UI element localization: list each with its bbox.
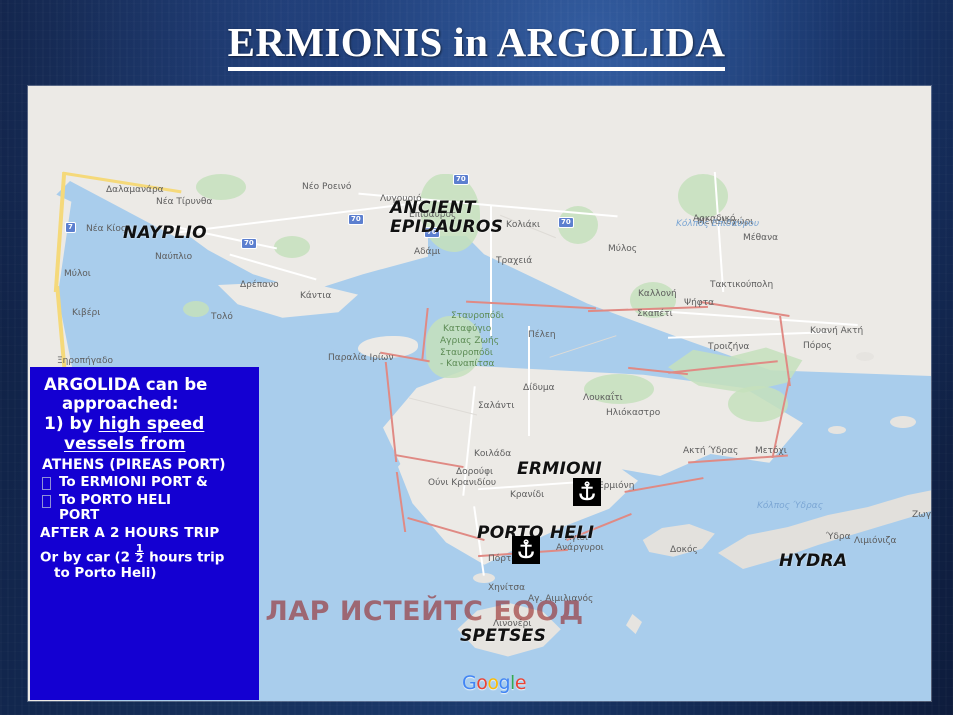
map-label: Δορούφι (456, 467, 493, 477)
bullet-box-icon (42, 477, 51, 490)
infobox-origin-port: ATHENS (PIREAS PORT) (40, 457, 249, 473)
map-label: Κιβέρι (72, 308, 100, 318)
infobox-car-text-b: hours trip (144, 549, 224, 565)
map-label: Πόρος (803, 341, 832, 351)
islet-5 (828, 426, 846, 434)
ermioni-port-marker[interactable] (573, 478, 601, 506)
map-label: Σαλάντι (478, 401, 514, 411)
green-tolo (183, 301, 209, 317)
page-title-text: ERMIONIS in ARGOLIDA (228, 18, 726, 71)
map-label: Ερμιόνη (598, 481, 634, 491)
highway-shield: 70 (348, 214, 364, 225)
infobox-bullet-1: To ERMIONI PORT & (40, 475, 249, 491)
islet-4 (890, 416, 916, 428)
map-label: Νέα Τίρυνθα (156, 197, 212, 207)
highway-shield: 70 (241, 238, 257, 249)
map-label: Καταφύγιο (443, 324, 491, 334)
map-label: Ακτή Ύδρας (683, 446, 738, 456)
islet-1 (626, 614, 642, 634)
infobox-option1-link-line1[interactable]: high speed (99, 414, 205, 434)
porto-heli-port-marker[interactable] (512, 536, 540, 564)
map-label: Κυανή Ακτή (810, 326, 863, 336)
map-overlay-label: ERMIONI (517, 459, 602, 479)
fraction-one-half: 12 (135, 544, 145, 564)
islet-3 (856, 352, 874, 361)
map-label: Καλλονή (638, 289, 677, 299)
infobox-bullet-2: To PORTO HELI PORT (40, 493, 249, 524)
map-label: Δίδυμα (523, 383, 555, 393)
map-label: Λουκαΐτι (583, 393, 623, 403)
map-label: Κόλπος Επιδαύρου (676, 219, 759, 229)
infobox-bullet-2-label-cont: PORT (59, 507, 99, 523)
infobox-bullet-1-label: To ERMIONI PORT & (59, 475, 208, 491)
map-label: Χηνίτσα (488, 583, 525, 593)
road-to-didyma (528, 326, 530, 436)
map-overlay-label: HYDRA (779, 551, 847, 571)
admin-boundary-n1 (466, 301, 596, 310)
green-patch-nafplio-e (274, 236, 310, 258)
info-text-box: ARGOLIDA can be approached: 1) by high s… (30, 367, 259, 700)
map-label: Δαλαμανάρα (106, 185, 164, 195)
map-overlay-label: SPETSES (460, 626, 546, 646)
map-label: Ζωγκαίικα (912, 510, 931, 520)
anchor-icon (515, 539, 537, 561)
infobox-heading: ARGOLIDA can be approached: (40, 375, 249, 413)
infobox-after-text: AFTER A 2 HOURS TRIP (40, 526, 249, 542)
map-label: Πέλεη (528, 330, 556, 340)
map-label: Τακτικούπολη (710, 280, 773, 290)
green-patch-ermionis (728, 386, 788, 422)
map-label: Νέο Ροεινό (302, 182, 351, 192)
infobox-car-text-a: Or by car (2 (40, 549, 135, 565)
road-minor-2 (550, 335, 617, 358)
map-label: - Καναπίτσα (440, 359, 494, 369)
map-label: Σταυροπόδι (440, 348, 493, 358)
islet-hydra-west (728, 541, 768, 561)
map-label: Κρανίδι (510, 490, 544, 500)
infobox-option1-link-line2[interactable]: vessels from (64, 434, 185, 454)
map-label: Ούνι Κρανιδίου (428, 478, 496, 488)
map-overlay-label: NAYPLIO (123, 223, 207, 243)
map-label: Σταυροπόδι (451, 311, 504, 321)
map-label: Νέα Κίος (86, 224, 126, 234)
map-label: Παραλία Ιρίων (328, 353, 394, 363)
green-patch-methana (678, 174, 728, 218)
map-label: Ξηροπήγαδο (57, 356, 113, 366)
infobox-car-option: Or by car (2 12 hours trip to Porto Heli… (40, 544, 249, 582)
highway-shield: 70 (453, 174, 469, 185)
map-label: Ύδρα (826, 532, 851, 542)
highway-shield: 70 (558, 217, 574, 228)
map-label: Ανάργυροι (556, 543, 604, 553)
highway-shield: 7 (65, 222, 76, 233)
map-label: Δοκός (670, 545, 698, 555)
map-label: Ψήφτα (684, 298, 714, 308)
map-label: Ναύπλιο (155, 252, 192, 262)
google-logo: Google (462, 672, 526, 694)
anchor-icon (576, 481, 598, 503)
admin-boundary-s5 (624, 477, 703, 493)
map-label: Δρέπανο (240, 280, 279, 290)
map-label: Αδάμι (414, 247, 440, 257)
map-label: Μύλοι (64, 269, 91, 279)
map-label: Μέθανα (743, 233, 778, 243)
map-label: Μύλος (608, 244, 637, 254)
map-label: Κόλπος Ύδρας (757, 501, 823, 511)
page-title: ERMIONIS in ARGOLIDA (0, 18, 953, 71)
map-label: Τροιζήνα (708, 342, 749, 352)
map-label: Κολιάκι (506, 220, 540, 230)
map-label: Τραχειά (496, 256, 532, 266)
map-label: Λιμιόνιζα (854, 536, 896, 546)
map-overlay-label: EPIDAUROS (390, 217, 503, 237)
map-overlay-label: ANCIENT (390, 198, 476, 218)
map-label: Κοιλάδα (474, 449, 511, 459)
map-label: Τολό (211, 312, 233, 322)
infobox-heading-line2: approached: (46, 394, 249, 413)
map-label: Μετόχι (755, 446, 787, 456)
island-dokos (638, 524, 718, 564)
map-label: Σκαπέτι (637, 309, 673, 319)
infobox-bullet-2-label: To PORTO HELI (59, 492, 171, 508)
infobox-heading-line1: ARGOLIDA can be (44, 375, 207, 394)
infobox-option1-prefix: 1) by (44, 414, 99, 434)
infobox-option1: 1) by high speed vessels from (40, 415, 249, 454)
map-label: Ηλιόκαστρο (606, 408, 660, 418)
map-label: Κάντια (300, 291, 331, 301)
map-label: Αγριας Ζωής (440, 336, 499, 346)
infobox-car-text-line2: to Porto Heli) (40, 566, 249, 582)
bullet-box-icon (42, 495, 51, 508)
fraction-denominator: 2 (135, 554, 145, 564)
